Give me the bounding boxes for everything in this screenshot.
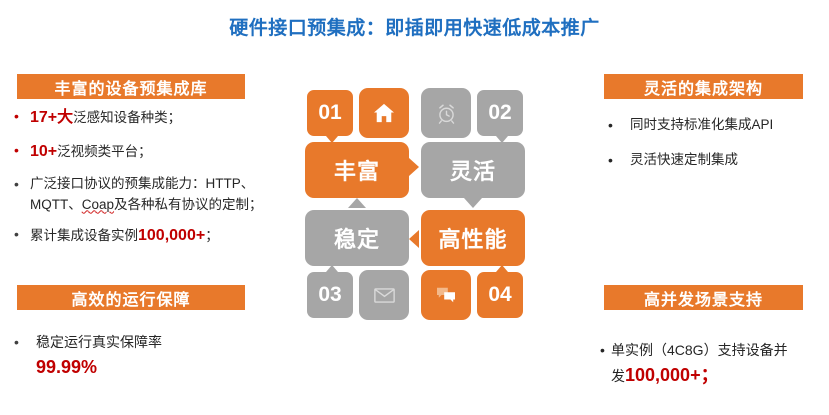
list-item: • 广泛接口协议的预集成能力：HTTP、MQTT、Coap及各种私有协议的定制； [14, 174, 292, 216]
home-icon [359, 88, 409, 138]
tile-number: 01 [318, 101, 341, 125]
tile-label: 丰富 [334, 154, 380, 186]
list-item: • 稳定运行真实保障率99.99% [14, 332, 292, 382]
tile-label-wrap: 灵活 [421, 142, 525, 198]
diagram-tile-01[interactable]: 01 丰富 [305, 88, 409, 198]
tile-number-badge: 03 [305, 270, 355, 320]
bullet-list-ops: • 稳定运行真实保障率99.99% [14, 332, 292, 389]
bullet-marker: • [14, 106, 30, 131]
misspelled-word: Coap [82, 197, 114, 212]
list-item-text: 灵活快速定制集成 [630, 150, 823, 172]
diagram-tile-02[interactable]: 02 灵活 [421, 88, 525, 198]
list-item-text-line2-b: 及各种私有协议的定制； [114, 197, 263, 212]
panel-header-rich: 丰富的设备预集成库 [17, 74, 245, 99]
list-item-text-line1: 广泛接口协议的预集成能力：HTTP、 [30, 176, 254, 191]
tile-top-row: 02 [421, 88, 525, 138]
bullet-list-arch: • 同时支持标准化集成API • 灵活快速定制集成 [608, 115, 823, 184]
tile-number-badge: 04 [475, 270, 525, 320]
list-item: • 累计集成设备实例100,000+； [14, 224, 292, 249]
bullet-marker: • [14, 174, 30, 216]
diagram-tile-04[interactable]: 高性能 04 [421, 210, 525, 320]
bullet-marker: • [14, 224, 30, 249]
tile-bottom-row: 03 [305, 270, 409, 320]
diagram-tile-03[interactable]: 稳定 03 [305, 210, 409, 320]
highlight-number: 10+ [30, 143, 57, 160]
connector-arrow-right [409, 158, 419, 176]
tile-number: 02 [488, 101, 511, 125]
list-item-label: 17+大泛感知设备种类； [30, 106, 292, 131]
alarm-clock-icon [421, 88, 471, 138]
tile-label: 高性能 [438, 222, 507, 254]
list-item-text: 单实例（4C8G）支持设备并 [611, 342, 788, 358]
tile-label: 灵活 [450, 154, 496, 186]
list-item-text: 泛感知设备种类； [73, 110, 181, 125]
quadrant-diagram: 01 丰富 [305, 88, 525, 320]
bullet-list-rich: • 17+大泛感知设备种类； • 10+泛视频类平台； • 广泛接口协议的预集成… [14, 106, 292, 258]
bullet-marker: • [600, 340, 611, 390]
bullet-marker: • [608, 150, 630, 172]
list-item-text-suffix: ； [205, 228, 219, 243]
list-item-text: 累计集成设备实例 [30, 228, 138, 243]
list-item: • 10+泛视频类平台； [14, 140, 292, 165]
list-item-text-mid: 发 [611, 368, 625, 384]
bullet-marker: • [14, 140, 30, 165]
tile-number-badge: 01 [305, 88, 355, 138]
tile-number-badge: 02 [475, 88, 525, 138]
tile-label-wrap: 高性能 [421, 210, 525, 266]
highlight-number: 17+大 [30, 109, 73, 126]
page-title: 硬件接口预集成：即插即用快速低成本推广 [0, 13, 829, 40]
list-item: • 同时支持标准化集成API [608, 115, 823, 137]
list-item-label: 广泛接口协议的预集成能力：HTTP、MQTT、Coap及各种私有协议的定制； [30, 174, 292, 216]
highlight-number: 100,000+ [138, 227, 205, 244]
list-item-text-line2-a: MQTT、 [30, 197, 82, 212]
badge-pointer [496, 265, 508, 272]
tile-number: 04 [488, 283, 511, 307]
tile-top-row: 01 [305, 88, 409, 138]
badge-pointer [326, 265, 338, 272]
bullet-marker: • [14, 332, 36, 382]
tile-label: 稳定 [334, 222, 380, 254]
slide-canvas: 硬件接口预集成：即插即用快速低成本推广 丰富的设备预集成库 • 17+大泛感知设… [0, 0, 829, 415]
list-item-text: 稳定运行真实保障率 [36, 334, 162, 350]
metric-value: 99.99% [36, 357, 97, 377]
panel-header-conc: 高并发场景支持 [604, 285, 803, 310]
list-item-text: 同时支持标准化集成API [630, 115, 823, 137]
bullet-list-conc: • 单实例（4C8G）支持设备并发100,000+； [600, 340, 829, 397]
chat-icon [421, 270, 471, 320]
list-item: • 单实例（4C8G）支持设备并发100,000+； [600, 340, 829, 390]
list-item-label: 10+泛视频类平台； [30, 140, 292, 165]
list-item: • 17+大泛感知设备种类； [14, 106, 292, 131]
panel-header-ops: 高效的运行保障 [17, 285, 245, 310]
bullet-marker: • [608, 115, 630, 137]
connector-arrow-up [348, 198, 366, 208]
connector-arrow-left [409, 230, 419, 248]
list-item-label: 稳定运行真实保障率99.99% [36, 332, 292, 382]
highlight-number: 100,000+； [625, 365, 719, 385]
list-item: • 灵活快速定制集成 [608, 150, 823, 172]
list-item-label: 累计集成设备实例100,000+； [30, 224, 292, 249]
tile-label-wrap: 稳定 [305, 210, 409, 266]
envelope-icon [359, 270, 409, 320]
list-item-label: 单实例（4C8G）支持设备并发100,000+； [611, 340, 829, 390]
connector-arrow-down [464, 198, 482, 208]
tile-label-wrap: 丰富 [305, 142, 409, 198]
tile-number: 03 [318, 283, 341, 307]
panel-header-arch: 灵活的集成架构 [604, 74, 803, 99]
list-item-text: 泛视频类平台； [57, 144, 152, 159]
tile-bottom-row: 04 [421, 270, 525, 320]
